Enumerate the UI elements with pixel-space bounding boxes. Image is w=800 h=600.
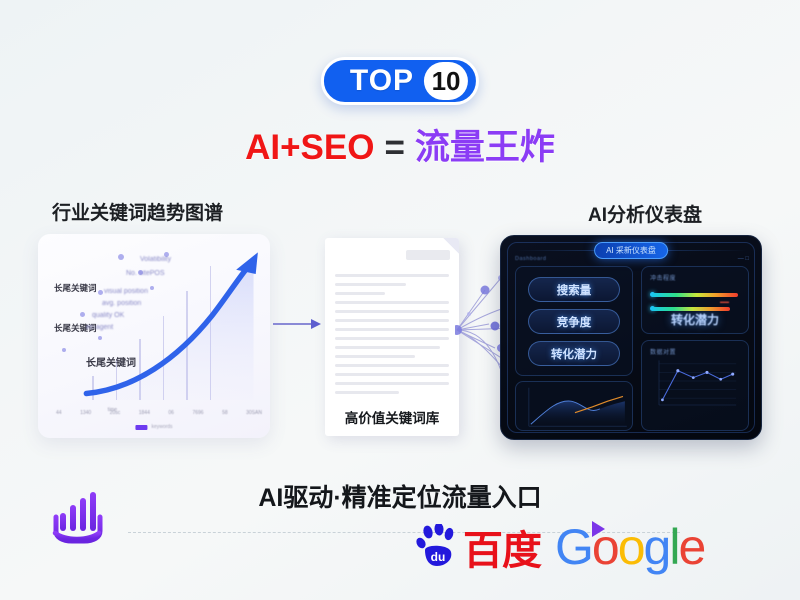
line-panel-title: 数据对置 bbox=[650, 347, 676, 356]
trend-dot bbox=[98, 336, 102, 340]
doc-line bbox=[335, 337, 449, 340]
axis-tick: 1844 bbox=[139, 410, 150, 416]
trend-blur-term: No. sitePOS bbox=[126, 270, 165, 277]
google-letter: o bbox=[618, 519, 644, 575]
baidu-paw-icon: du bbox=[415, 524, 461, 570]
metric-pill-competition[interactable]: 竞争度 bbox=[528, 309, 620, 334]
baidu-wordmark: 百度 bbox=[463, 532, 541, 570]
keyword-library-document-card: 高价值关键词库 bbox=[325, 238, 459, 436]
doc-line bbox=[335, 364, 449, 367]
bottom-slogan: AI驱动·精准定位流量入口 bbox=[0, 478, 800, 514]
baidu-du-mark: du bbox=[431, 550, 446, 564]
top-badge-word: TOP bbox=[350, 66, 414, 96]
dashboard-window-controls[interactable]: — □ bbox=[738, 256, 749, 262]
doc-line bbox=[335, 346, 440, 349]
top-rank-badge: TOP 10 bbox=[321, 57, 479, 105]
trend-blur-term: visual position bbox=[104, 288, 148, 295]
google-letter: e bbox=[678, 519, 704, 575]
trend-dot bbox=[62, 348, 66, 352]
trend-plot-area: 长尾关键词 长尾关键词 长尾关键词 Volatibility No. siteP… bbox=[54, 248, 258, 400]
heat-bar bbox=[652, 293, 738, 297]
dashboard-title-badge: AI 采新仪表盘 bbox=[594, 242, 668, 259]
trend-label: 长尾关键词 bbox=[86, 354, 136, 369]
trend-dot bbox=[80, 312, 85, 317]
slide-canvas: TOP 10 AI+SEO=流量王炸 行业关键词趋势图谱 AI分析仪表盘 bbox=[0, 0, 800, 600]
heat-gauge-panel: 冲击程度 ▬▬ 转化潜力 bbox=[641, 266, 749, 334]
bar-chart-icon bbox=[50, 487, 104, 545]
trend-legend: keywords bbox=[135, 424, 172, 430]
doc-line bbox=[335, 328, 449, 331]
doc-line bbox=[335, 301, 449, 304]
dashboard-area-chart bbox=[516, 382, 632, 430]
axis-tick: 7696 bbox=[192, 410, 203, 416]
flow-arrow-icon bbox=[273, 318, 321, 330]
doc-line bbox=[335, 292, 385, 295]
search-engine-logos: du 百度 Google bbox=[415, 524, 704, 570]
headline-equals: = bbox=[384, 128, 404, 167]
trend-dot bbox=[138, 270, 143, 275]
doc-line bbox=[335, 355, 415, 358]
heat-panel-title: 冲击程度 bbox=[650, 273, 676, 282]
legend-label: keywords bbox=[151, 424, 172, 430]
headline-left: AI+SEO bbox=[245, 128, 374, 167]
dashboard-subtitle: Dashboard bbox=[515, 256, 546, 262]
ai-dashboard-card: AI 采新仪表盘 Dashboard — □ 搜索量 竞争度 转化潜力 bbox=[500, 235, 762, 440]
doc-line bbox=[335, 373, 449, 376]
google-letter: G bbox=[555, 519, 592, 575]
doc-line bbox=[335, 382, 449, 385]
trend-blur-term: avg. position bbox=[102, 300, 141, 307]
axis-tick: 58 bbox=[222, 410, 228, 416]
trend-axis-ticks: 44 1340 20sc 1844 06 7696 58 30SAN bbox=[56, 410, 262, 416]
axis-tick: 20sc bbox=[110, 410, 121, 416]
axis-tick: 44 bbox=[56, 410, 62, 416]
headline-right: 流量王炸 bbox=[415, 128, 555, 167]
trend-blur-term: quality OK bbox=[92, 312, 124, 319]
axis-tick: 06 bbox=[168, 410, 174, 416]
top-badge-number: 10 bbox=[424, 62, 468, 100]
trend-dot bbox=[118, 254, 124, 260]
trend-blur-term: ec-agent bbox=[86, 324, 113, 331]
doc-line bbox=[335, 391, 399, 394]
doc-line bbox=[335, 319, 449, 322]
doc-line bbox=[335, 274, 449, 277]
dashboard-area-chart-panel bbox=[515, 381, 633, 431]
trend-dot bbox=[150, 286, 154, 290]
metric-pill-panel: 搜索量 竞争度 转化潜力 bbox=[515, 266, 633, 376]
keyword-trend-card: 长尾关键词 长尾关键词 长尾关键词 Volatibility No. siteP… bbox=[38, 234, 270, 438]
dashboard-line-chart bbox=[642, 357, 748, 417]
doc-text-lines bbox=[335, 274, 449, 400]
dashboard-line-chart-panel: 数据对置 bbox=[641, 340, 749, 431]
axis-tick: 30SAN bbox=[246, 410, 262, 416]
trend-blur-term: Volatibility bbox=[140, 256, 171, 263]
page-title: AI+SEO=流量王炸 bbox=[0, 128, 800, 168]
legend-swatch bbox=[135, 425, 147, 430]
heat-overlay-label: 转化潜力 bbox=[642, 311, 748, 328]
trend-dot bbox=[164, 252, 169, 257]
doc-caption: 高价值关键词库 bbox=[325, 407, 459, 427]
axis-tick: 1340 bbox=[80, 410, 91, 416]
doc-line bbox=[335, 283, 406, 286]
google-letter: o bbox=[592, 519, 618, 575]
doc-line bbox=[335, 310, 449, 313]
left-section-caption: 行业关键词趋势图谱 bbox=[52, 198, 223, 225]
metric-pill-search-volume[interactable]: 搜索量 bbox=[528, 277, 620, 302]
right-section-caption: AI分析仪表盘 bbox=[588, 200, 702, 227]
google-letter: g bbox=[644, 519, 670, 575]
google-logo: Google bbox=[555, 525, 704, 570]
trend-label: 长尾关键词 bbox=[54, 282, 97, 294]
trend-dot bbox=[98, 290, 103, 295]
baidu-logo: du 百度 bbox=[415, 524, 541, 570]
doc-header-block bbox=[406, 250, 450, 260]
metric-pill-conversion[interactable]: 转化潜力 bbox=[528, 341, 620, 366]
